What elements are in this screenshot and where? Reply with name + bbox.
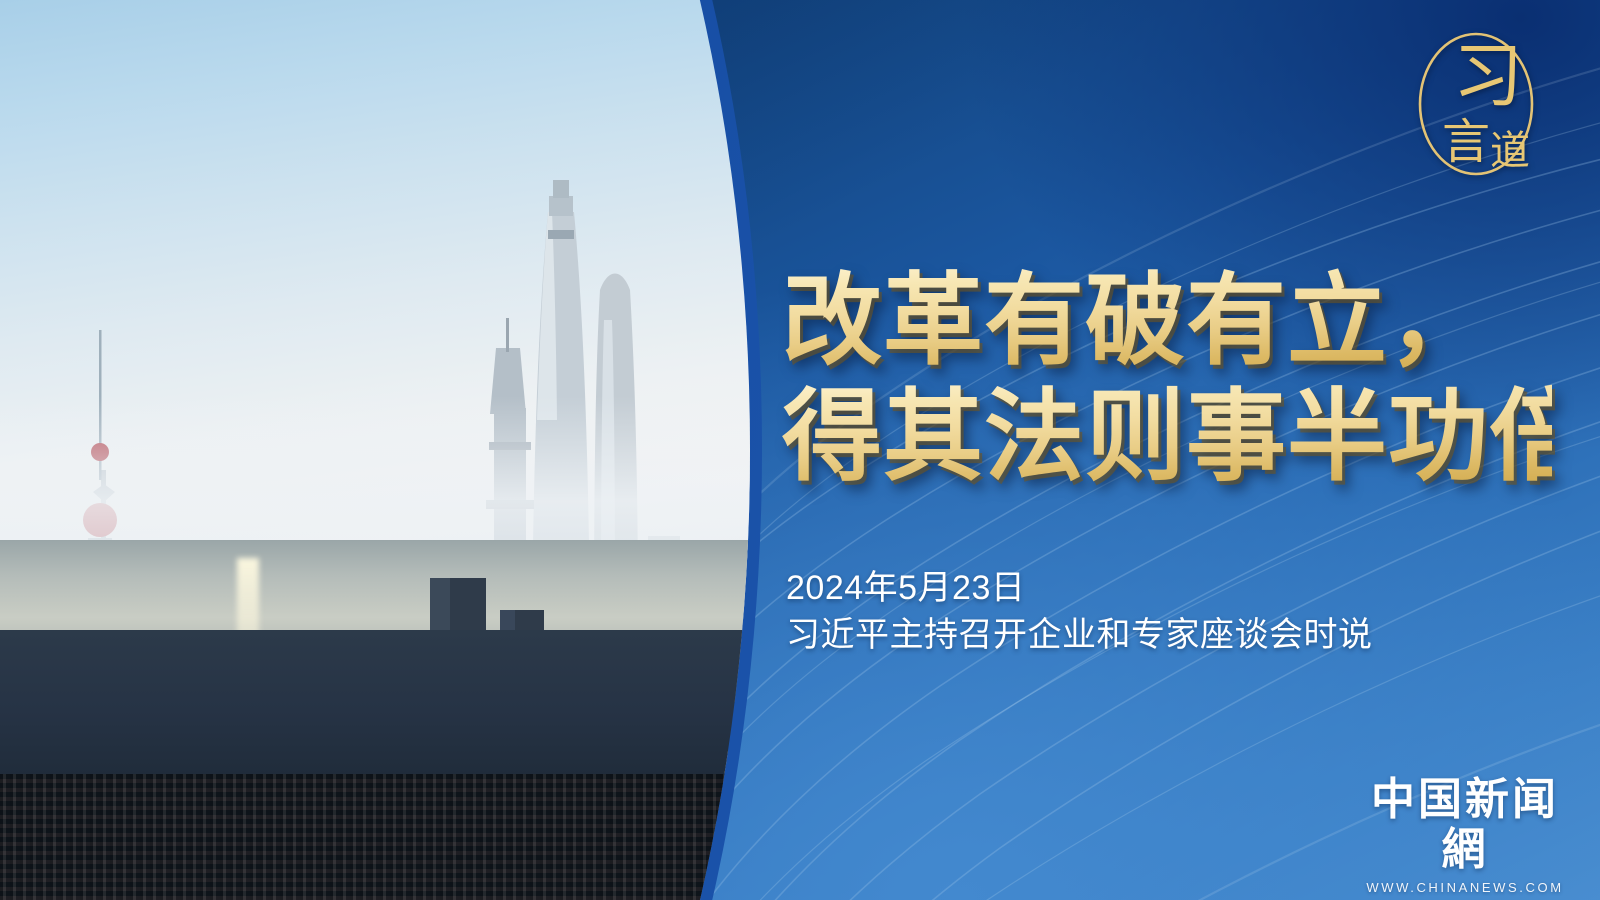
chinanews-brand: 中国新闻網 WWW.CHINANEWS.COM bbox=[1360, 775, 1570, 895]
brand-url: WWW.CHINANEWS.COM bbox=[1360, 880, 1570, 895]
cityscape-photo bbox=[0, 0, 790, 900]
headline: 改革有破有立， 得其法则事半功倍 bbox=[782, 262, 1552, 494]
seal-char-xi: 习 bbox=[1453, 35, 1523, 117]
subtitle-block: 2024年5月23日 习近平主持召开企业和专家座谈会时说 bbox=[786, 565, 1373, 659]
subtitle-description: 习近平主持召开企业和专家座谈会时说 bbox=[786, 611, 1373, 659]
headline-line-1: 改革有破有立， bbox=[782, 262, 1552, 378]
seal-char-dao: 道 bbox=[1490, 128, 1530, 174]
xiyandao-seal-logo: 习 言 道 bbox=[1402, 18, 1550, 190]
headline-line-2: 得其法则事半功倍 bbox=[782, 378, 1552, 494]
seal-char-yan: 言 bbox=[1442, 114, 1490, 170]
lowrise-housing-texture bbox=[0, 774, 790, 900]
poster-canvas: 改革有破有立， 得其法则事半功倍 2024年5月23日 习近平主持召开企业和专家… bbox=[0, 0, 1600, 900]
brand-name: 中国新闻網 bbox=[1360, 775, 1570, 875]
subtitle-date: 2024年5月23日 bbox=[786, 565, 1373, 611]
